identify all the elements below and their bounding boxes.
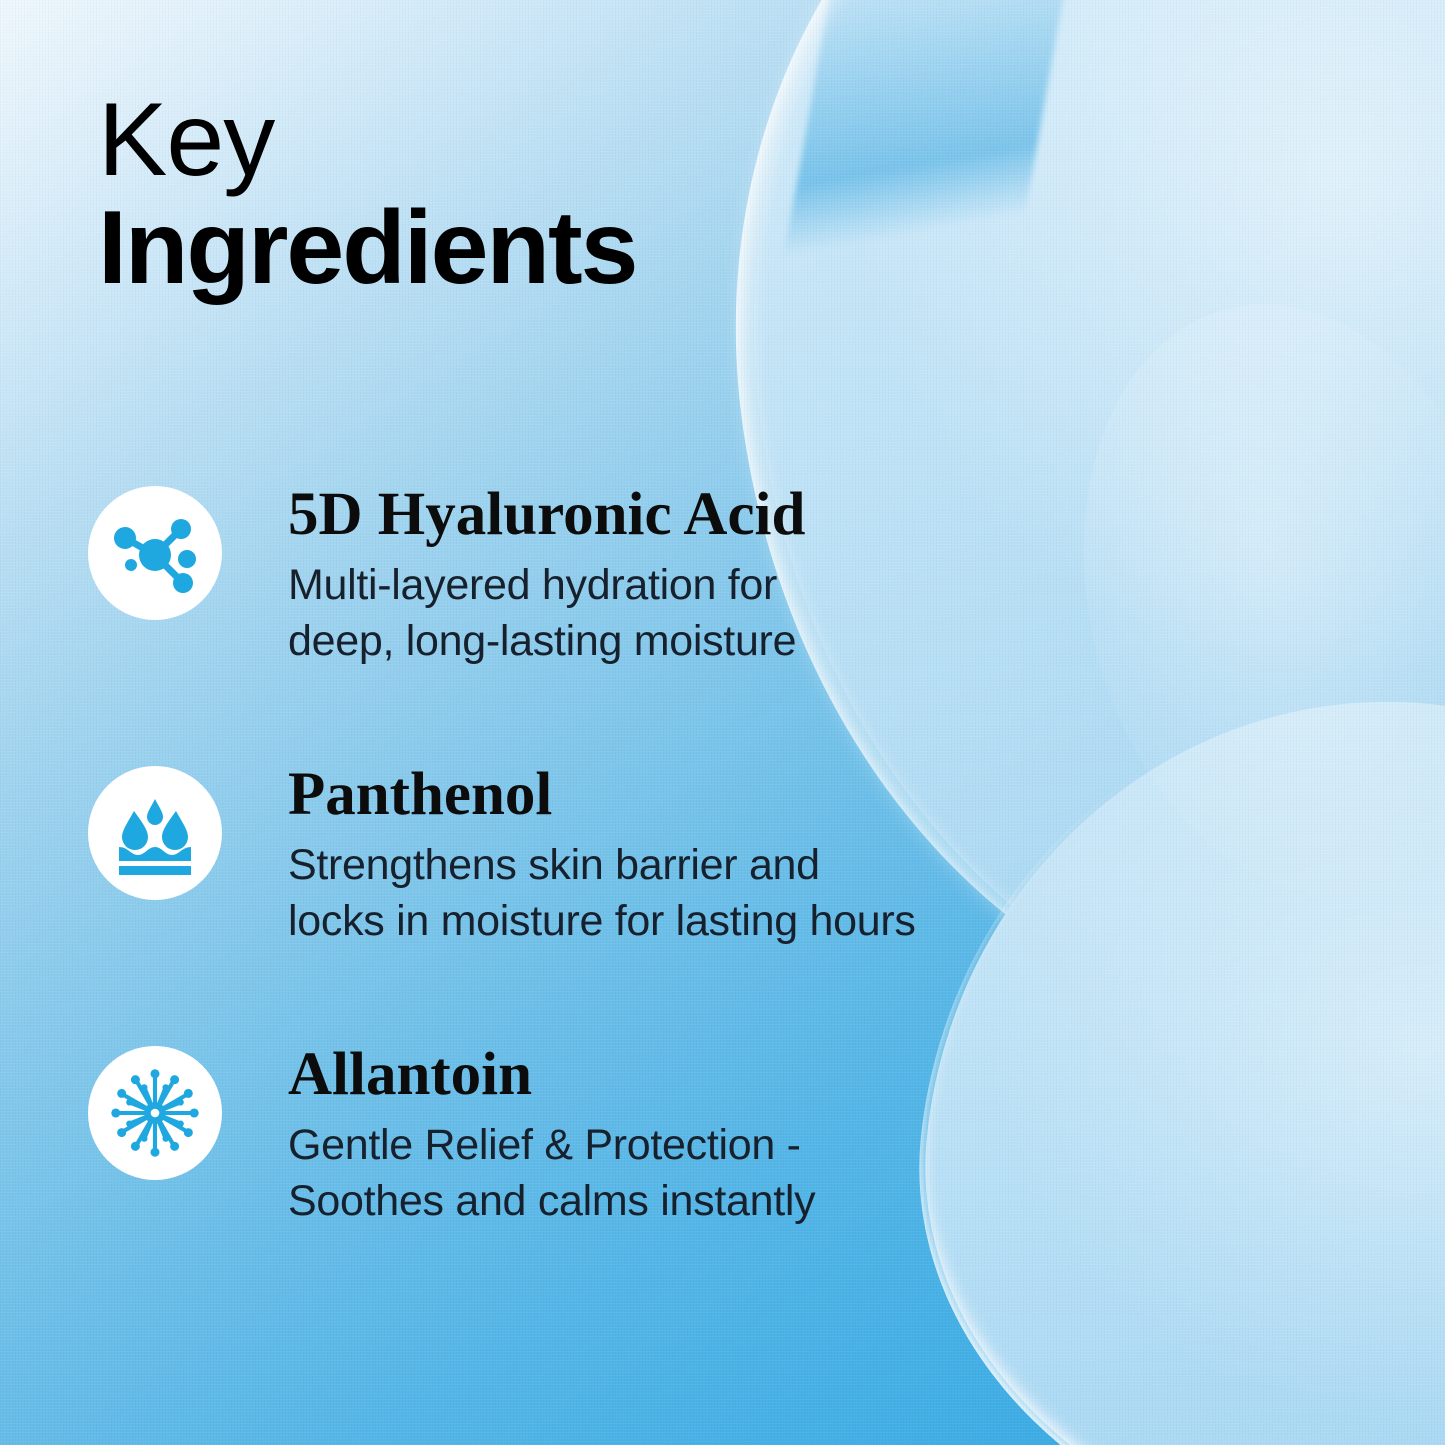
list-item: Panthenol Strengthens skin barrier and l… [88, 762, 1068, 1017]
page-title: Key Ingredients [98, 88, 637, 300]
ingredient-description: Strengthens skin barrier and locks in mo… [288, 838, 1068, 950]
list-item: 5D Hyaluronic Acid Multi-layered hydrati… [88, 482, 1068, 737]
ingredient-title: 5D Hyaluronic Acid [288, 482, 1068, 548]
ingredient-description-line-2: locks in moisture for lasting hours [288, 894, 1068, 950]
page-title-line-2: Ingredients [98, 196, 637, 300]
ingredient-description-line-1: Strengthens skin barrier and [288, 838, 1068, 894]
page-title-line-1: Key [98, 88, 637, 192]
ingredient-description: Multi-layered hydration for deep, long-l… [288, 558, 1068, 670]
ingredient-description-line-2: Soothes and calms instantly [288, 1174, 1068, 1230]
ingredient-title: Allantoin [288, 1042, 1068, 1108]
poster-content: Key Ingredients [0, 0, 1445, 1445]
ingredient-description-line-1: Multi-layered hydration for [288, 558, 1068, 614]
ingredient-title: Panthenol [288, 762, 1068, 828]
ingredient-list: 5D Hyaluronic Acid Multi-layered hydrati… [88, 482, 1068, 1297]
molecule-icon [88, 486, 222, 620]
ingredient-description-line-1: Gentle Relief & Protection - [288, 1118, 1068, 1174]
ingredient-description: Gentle Relief & Protection - Soothes and… [288, 1118, 1068, 1230]
list-item: Allantoin Gentle Relief & Protection - S… [88, 1042, 1068, 1297]
ingredient-description-line-2: deep, long-lasting moisture [288, 614, 1068, 670]
snowflake-burst-icon [88, 1046, 222, 1180]
key-ingredients-poster: Key Ingredients [0, 0, 1445, 1445]
water-droplets-shield-icon [88, 766, 222, 900]
